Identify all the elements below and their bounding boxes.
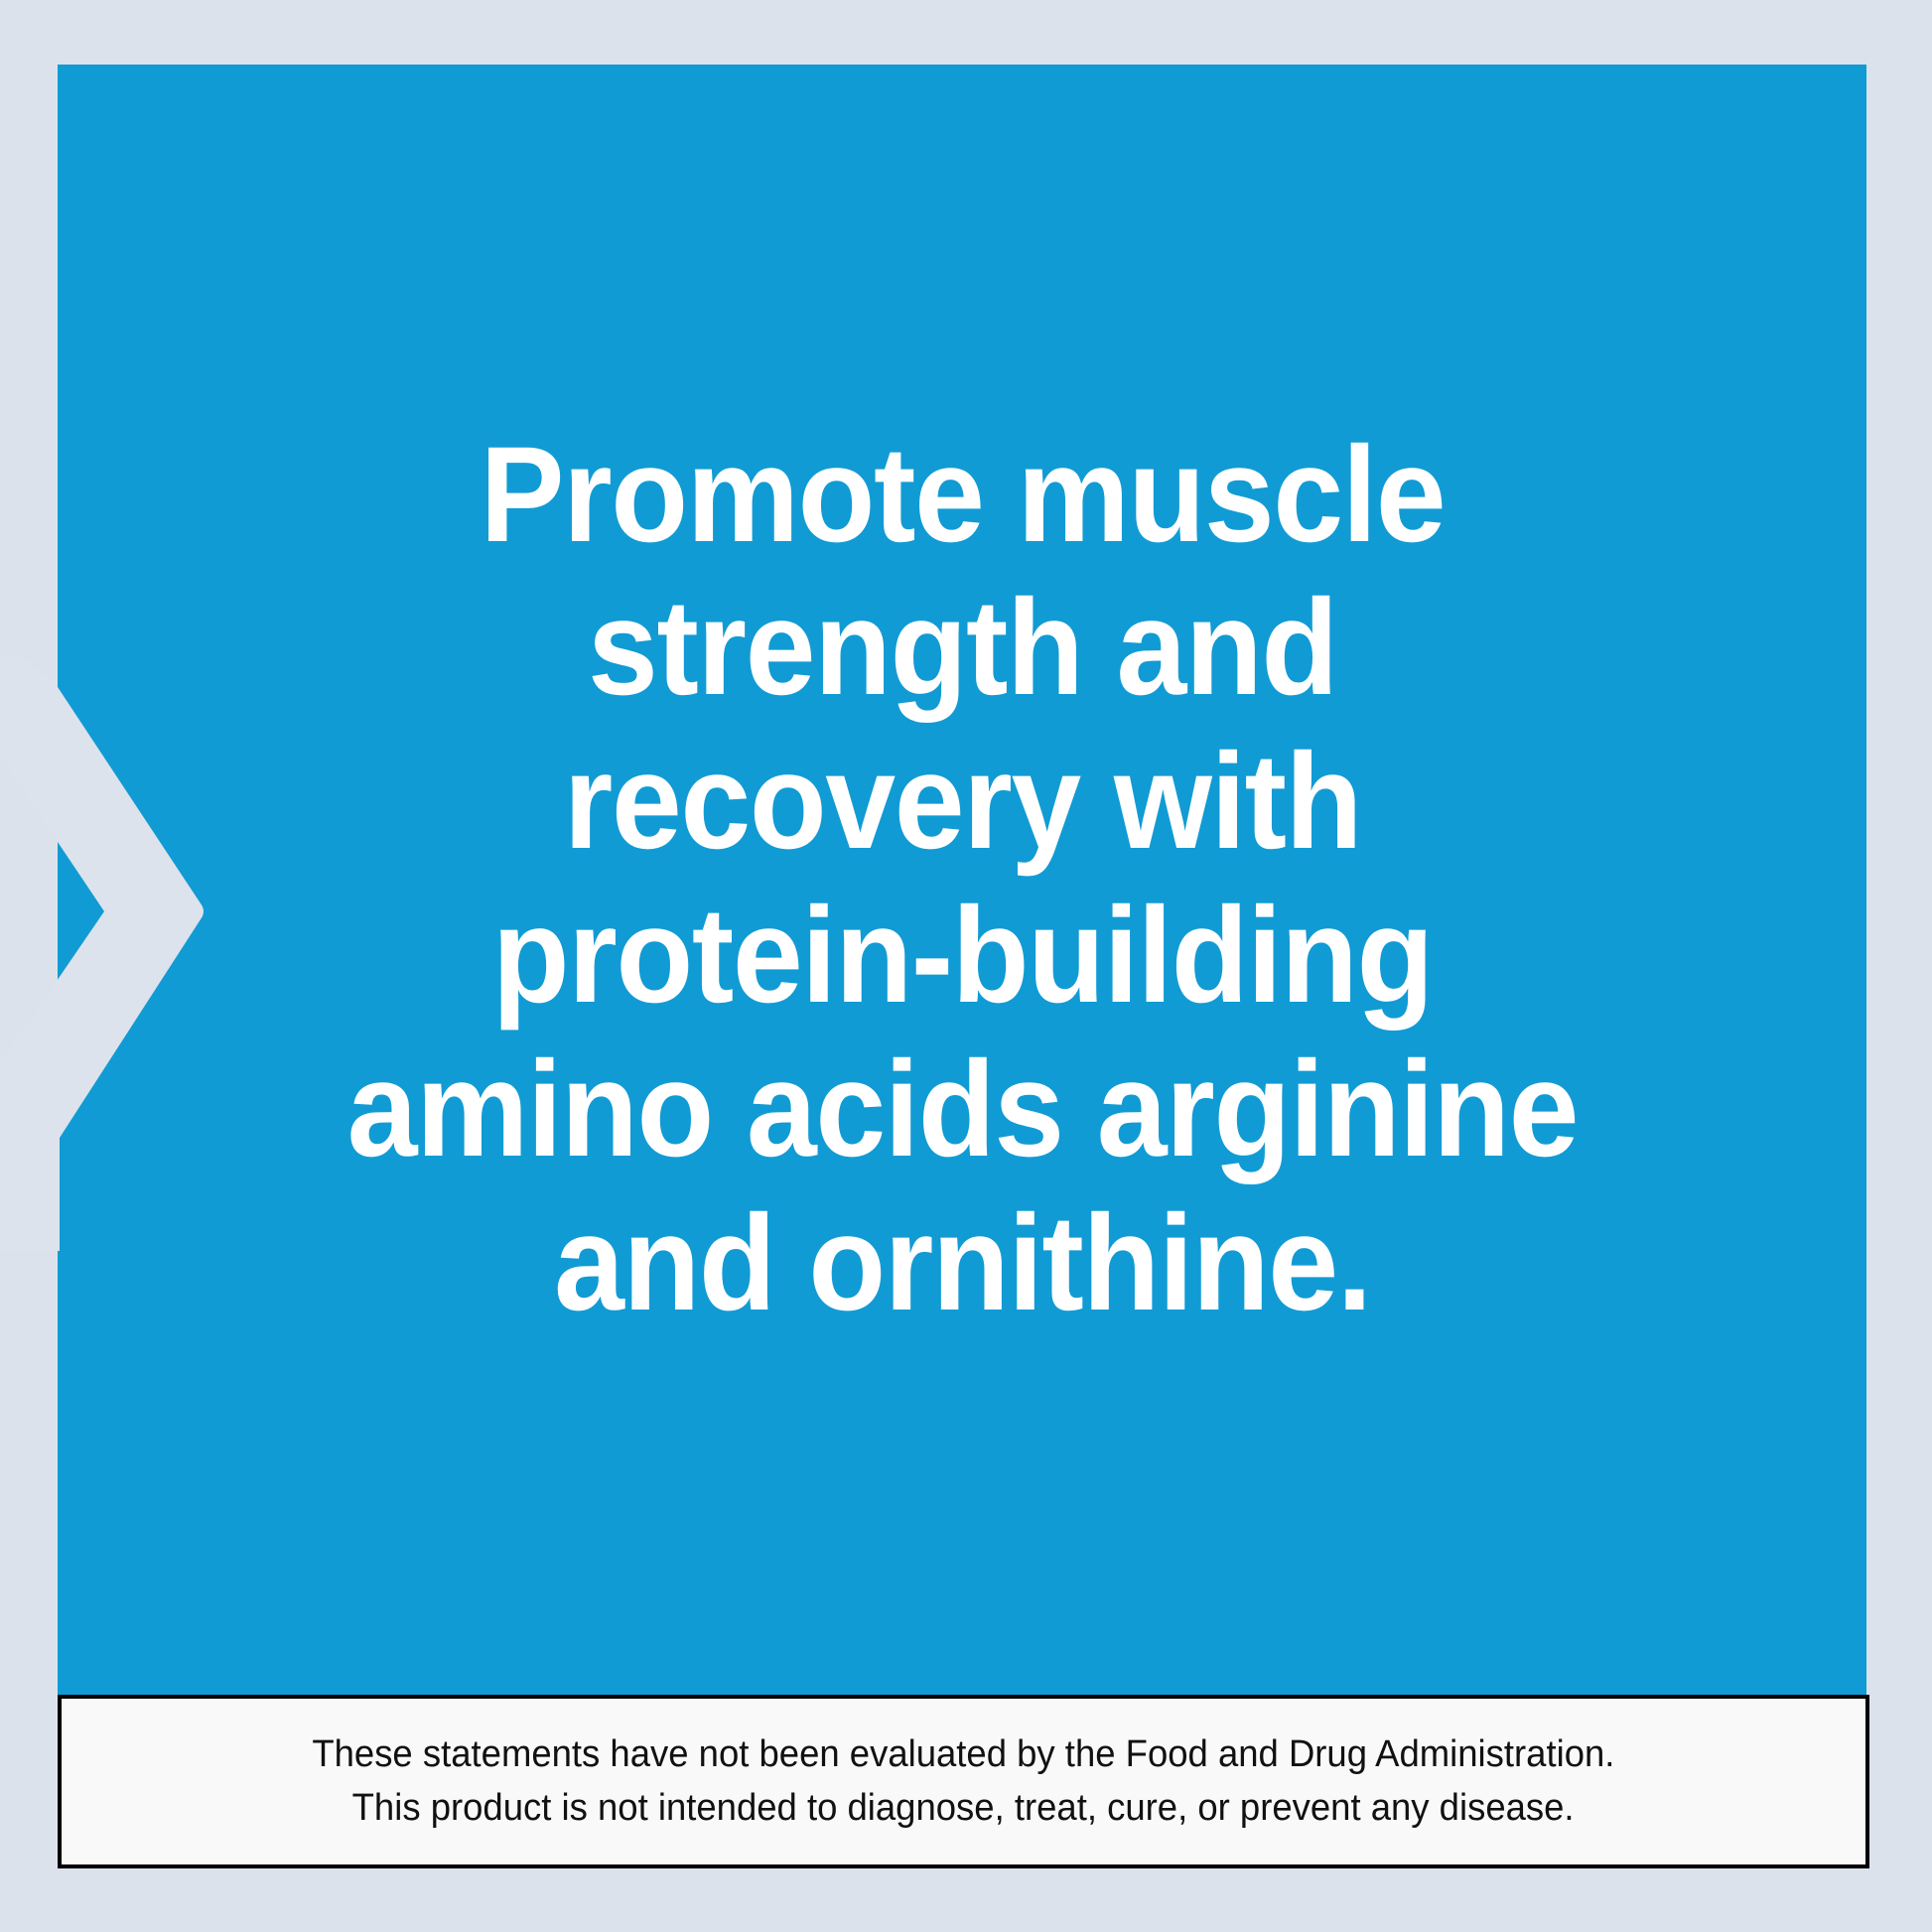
disclaimer-line-2: This product is not intended to diagnose… [352, 1782, 1575, 1836]
fda-disclaimer-box: These statements have not been evaluated… [58, 1695, 1869, 1868]
headline-container: Promote muscle strength and recovery wit… [58, 65, 1866, 1695]
disclaimer-line-1: These statements have not been evaluated… [312, 1728, 1614, 1782]
page-title: Promote muscle strength and recovery wit… [346, 419, 1577, 1341]
product-claim-graphic: Promote muscle strength and recovery wit… [0, 0, 1932, 1932]
